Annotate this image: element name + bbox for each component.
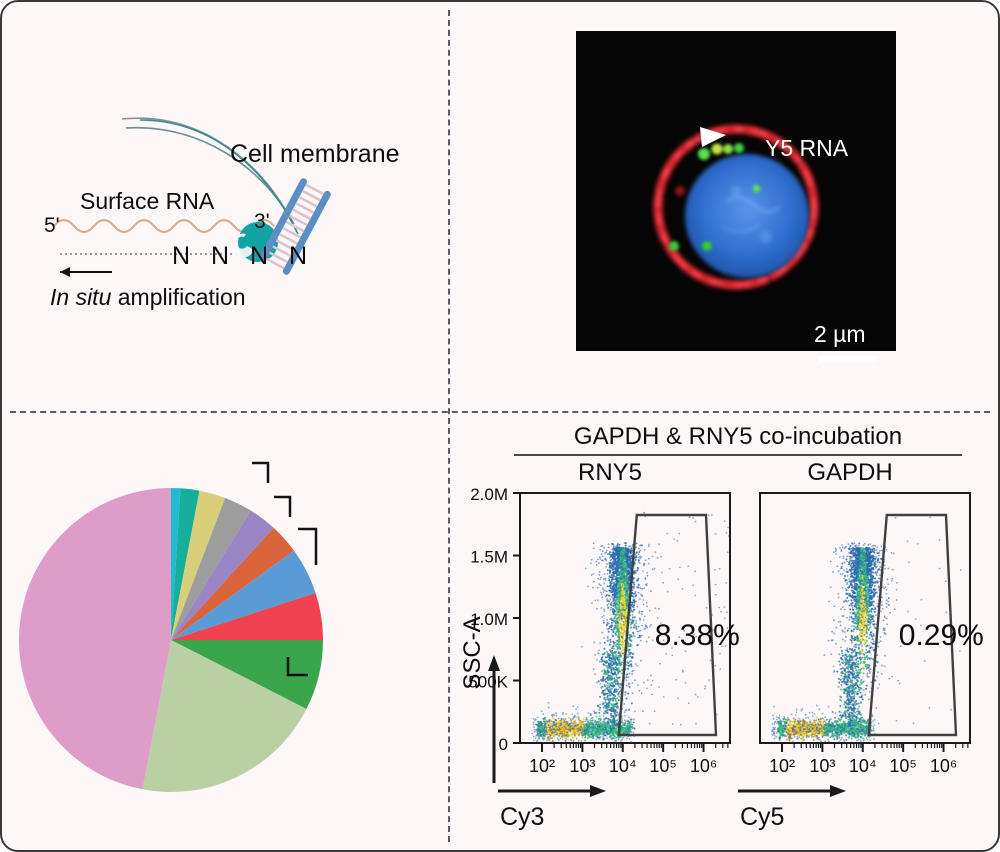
density-dot bbox=[625, 709, 627, 711]
density-dot bbox=[605, 596, 607, 598]
density-dot bbox=[616, 723, 618, 725]
density-dot bbox=[596, 608, 598, 610]
density-dot bbox=[626, 738, 628, 740]
density-dot bbox=[578, 716, 580, 718]
density-dot bbox=[662, 582, 664, 584]
x-axis-label: Cy3 bbox=[500, 803, 544, 831]
density-dot bbox=[607, 622, 609, 624]
density-dot bbox=[623, 599, 625, 601]
density-dot bbox=[565, 735, 567, 737]
panel-schematic: Cell membrane Surface RNA 5' 3' N N N N … bbox=[2, 2, 448, 411]
density-dot bbox=[549, 734, 551, 736]
density-dot bbox=[588, 736, 590, 738]
density-dot bbox=[557, 728, 559, 730]
density-dot bbox=[607, 722, 609, 724]
density-dot bbox=[623, 621, 625, 623]
density-dot bbox=[612, 543, 614, 545]
density-dot bbox=[648, 545, 650, 547]
density-dot bbox=[612, 709, 614, 711]
density-dot bbox=[592, 737, 594, 739]
density-dot bbox=[607, 640, 609, 642]
density-dot bbox=[595, 600, 597, 602]
density-dot bbox=[587, 727, 589, 729]
flow-plot-rny5: 2.0M1.5M1.0M500K010²10³10⁴10⁵10⁶Cy38.38% bbox=[468, 485, 740, 831]
density-dot bbox=[694, 570, 696, 572]
density-dot bbox=[596, 681, 598, 683]
density-dot bbox=[630, 727, 632, 729]
density-dot bbox=[631, 673, 633, 675]
density-dot bbox=[635, 601, 637, 603]
density-dot bbox=[638, 644, 640, 646]
density-dot bbox=[621, 720, 623, 722]
density-dot bbox=[557, 738, 559, 740]
density-dot bbox=[556, 725, 558, 727]
x-tick-label: 10² bbox=[769, 756, 795, 776]
density-dot bbox=[619, 660, 621, 662]
density-dot bbox=[626, 551, 628, 553]
density-dot bbox=[615, 681, 617, 683]
density-dot bbox=[605, 559, 607, 561]
cell-membrane-label: Cell membrane bbox=[230, 140, 400, 169]
scale-bar bbox=[818, 356, 876, 362]
density-dot bbox=[570, 739, 572, 741]
density-dot bbox=[874, 611, 876, 613]
density-dot bbox=[599, 661, 601, 663]
panel-micrograph: Y5 RNA 2 µm bbox=[450, 2, 1000, 411]
density-dot bbox=[639, 690, 641, 692]
density-dot bbox=[610, 716, 612, 718]
amplification-arrow-head bbox=[60, 267, 70, 277]
density-dot bbox=[609, 572, 611, 574]
density-dot bbox=[614, 556, 616, 558]
density-dot bbox=[608, 654, 610, 656]
density-dot bbox=[629, 653, 631, 655]
density-dot bbox=[598, 574, 600, 576]
density-dot bbox=[727, 527, 729, 529]
density-dot bbox=[629, 686, 631, 688]
density-dot bbox=[617, 682, 619, 684]
density-dot bbox=[602, 703, 604, 705]
density-dot bbox=[618, 739, 620, 741]
density-dot bbox=[590, 730, 592, 732]
scale-bar-label: 2 µm bbox=[814, 321, 866, 348]
density-dot bbox=[551, 732, 553, 734]
density-dot bbox=[612, 685, 614, 687]
density-dot bbox=[601, 632, 603, 634]
density-dot bbox=[610, 604, 612, 606]
density-dot bbox=[621, 547, 623, 549]
density-dot bbox=[621, 637, 623, 639]
density-dot bbox=[603, 615, 605, 617]
density-dot bbox=[715, 594, 717, 596]
density-dot bbox=[626, 590, 628, 592]
density-dot bbox=[625, 694, 627, 696]
density-dot bbox=[631, 645, 633, 647]
density-dot bbox=[635, 627, 637, 629]
density-dot bbox=[672, 723, 674, 725]
density-dot bbox=[606, 712, 608, 714]
density-dot bbox=[627, 646, 629, 648]
density-dot bbox=[612, 663, 614, 665]
density-dot bbox=[560, 724, 562, 726]
density-dot bbox=[865, 652, 867, 654]
density-dot bbox=[612, 568, 614, 570]
density-dot bbox=[612, 635, 614, 637]
density-dot bbox=[622, 737, 624, 739]
density-dot bbox=[626, 685, 628, 687]
density-dot bbox=[592, 587, 594, 589]
density-dot bbox=[606, 619, 608, 621]
density-dot bbox=[630, 555, 632, 557]
density-dot bbox=[609, 649, 611, 651]
density-dot bbox=[621, 604, 623, 606]
density-dot bbox=[723, 606, 725, 608]
density-dot bbox=[591, 733, 593, 735]
density-dot bbox=[609, 557, 611, 559]
density-dot bbox=[569, 723, 571, 725]
density-dot bbox=[560, 728, 562, 730]
y-axis-arrow-head bbox=[488, 655, 500, 671]
density-dot bbox=[714, 569, 716, 571]
density-dot bbox=[611, 596, 613, 598]
density-dot bbox=[582, 734, 584, 736]
density-dot bbox=[661, 572, 663, 574]
density-dot bbox=[616, 547, 618, 549]
density-dot bbox=[635, 622, 637, 624]
density-dot bbox=[612, 731, 614, 733]
density-dot bbox=[618, 696, 620, 698]
density-dot bbox=[591, 559, 593, 561]
density-dot bbox=[715, 584, 717, 586]
density-dot bbox=[615, 709, 617, 711]
density-dot bbox=[576, 738, 578, 740]
density-dot bbox=[604, 734, 606, 736]
y-tick-label: 0 bbox=[499, 735, 508, 754]
density-dot bbox=[592, 573, 594, 575]
density-dot bbox=[547, 721, 549, 723]
density-dot bbox=[622, 646, 624, 648]
density-dot bbox=[637, 580, 639, 582]
density-dot bbox=[637, 568, 639, 570]
density-dot bbox=[614, 621, 616, 623]
density-dot bbox=[663, 696, 665, 698]
density-dot bbox=[564, 720, 566, 722]
density-dot bbox=[606, 590, 608, 592]
density-dot bbox=[637, 637, 639, 639]
density-dot bbox=[615, 662, 617, 664]
density-dot bbox=[609, 735, 611, 737]
density-dot bbox=[604, 701, 606, 703]
density-dot bbox=[617, 680, 619, 682]
density-dot bbox=[573, 741, 575, 743]
density-dot bbox=[610, 726, 612, 728]
density-dot bbox=[868, 637, 870, 639]
density-dot bbox=[620, 613, 622, 615]
density-dot bbox=[643, 604, 645, 606]
leader-snorna bbox=[298, 529, 316, 565]
density-dot bbox=[615, 713, 617, 715]
density-dot bbox=[585, 733, 587, 735]
density-dot bbox=[603, 715, 605, 717]
density-dot bbox=[610, 703, 612, 705]
density-dot bbox=[583, 727, 585, 729]
density-dot bbox=[613, 545, 615, 547]
density-dot bbox=[624, 576, 626, 578]
density-dot bbox=[618, 587, 620, 589]
density-dot bbox=[633, 584, 635, 586]
density-dot bbox=[600, 592, 602, 594]
density-dot bbox=[631, 547, 633, 549]
density-dot bbox=[619, 619, 621, 621]
density-dot bbox=[616, 620, 618, 622]
density-dot bbox=[537, 740, 539, 742]
density-dot bbox=[618, 693, 620, 695]
density-dot bbox=[623, 588, 625, 590]
panel-flow: GAPDH & RNY5 co-incubation RNY5 GAPDH SS… bbox=[450, 413, 1000, 852]
density-dot bbox=[636, 631, 638, 633]
density-dot bbox=[607, 726, 609, 728]
density-dot bbox=[612, 725, 614, 727]
density-dot bbox=[574, 732, 576, 734]
density-dot bbox=[599, 642, 601, 644]
density-dot bbox=[607, 569, 609, 571]
density-dot bbox=[631, 653, 633, 655]
density-dot bbox=[622, 568, 624, 570]
density-dot bbox=[598, 583, 600, 585]
density-dot bbox=[658, 608, 660, 610]
density-dot bbox=[666, 533, 668, 535]
density-dot bbox=[695, 723, 697, 725]
density-dot bbox=[609, 583, 611, 585]
density-dot bbox=[618, 737, 620, 739]
density-dot bbox=[548, 725, 550, 727]
density-dot bbox=[603, 707, 605, 709]
density-dot bbox=[606, 598, 608, 600]
density-dot bbox=[682, 588, 684, 590]
density-dot bbox=[611, 738, 613, 740]
density-dot bbox=[606, 550, 608, 552]
density-dot bbox=[704, 688, 706, 690]
density-dot bbox=[614, 740, 616, 742]
density-dot bbox=[613, 669, 615, 671]
density-dot bbox=[609, 644, 611, 646]
density-dot bbox=[638, 548, 640, 550]
density-dot bbox=[578, 717, 580, 719]
density-dot bbox=[627, 654, 629, 656]
density-dot bbox=[551, 737, 553, 739]
density-dot bbox=[597, 731, 599, 733]
density-dot bbox=[562, 713, 564, 715]
density-dot bbox=[588, 731, 590, 733]
density-dot bbox=[609, 693, 611, 695]
density-dot bbox=[568, 729, 570, 731]
density-dot bbox=[563, 726, 565, 728]
density-dot bbox=[591, 574, 593, 576]
density-dot bbox=[535, 730, 537, 732]
density-dot bbox=[626, 732, 628, 734]
density-dot bbox=[715, 665, 717, 667]
density-dot bbox=[728, 535, 730, 537]
flow-title: GAPDH & RNY5 co-incubation bbox=[514, 423, 962, 456]
density-dot bbox=[685, 682, 687, 684]
density-dot bbox=[588, 722, 590, 724]
density-dot bbox=[586, 724, 588, 726]
density-dot bbox=[581, 646, 583, 648]
density-dot bbox=[606, 704, 608, 706]
density-dot bbox=[616, 668, 618, 670]
density-dot bbox=[654, 607, 656, 609]
density-dot bbox=[599, 571, 601, 573]
density-dot bbox=[613, 588, 615, 590]
density-dot bbox=[611, 688, 613, 690]
density-dot bbox=[538, 723, 540, 725]
density-dot bbox=[641, 613, 643, 615]
y-tick-label: 500K bbox=[468, 673, 508, 692]
density-dot bbox=[617, 545, 619, 547]
density-dot bbox=[636, 543, 638, 545]
density-dot bbox=[532, 722, 534, 724]
density-dot bbox=[613, 594, 615, 596]
density-dot bbox=[614, 582, 616, 584]
density-dot bbox=[533, 726, 535, 728]
density-dot bbox=[534, 729, 536, 731]
density-dot bbox=[623, 732, 625, 734]
density-dot bbox=[611, 667, 613, 669]
density-dot bbox=[617, 581, 619, 583]
density-dot bbox=[617, 568, 619, 570]
density-dot bbox=[596, 712, 598, 714]
x-tick-label: 10² bbox=[529, 756, 555, 776]
density-dot bbox=[565, 721, 567, 723]
density-dot bbox=[624, 723, 626, 725]
density-dot bbox=[600, 558, 602, 560]
density-dot bbox=[546, 734, 548, 736]
density-dot bbox=[641, 692, 643, 694]
density-dot bbox=[726, 611, 728, 613]
density-dot bbox=[627, 656, 629, 658]
density-dot bbox=[593, 542, 595, 544]
density-dot bbox=[614, 604, 616, 606]
density-dot bbox=[604, 590, 606, 592]
density-dot bbox=[595, 732, 597, 734]
density-dot bbox=[619, 549, 621, 551]
x-tick-label: 10⁶ bbox=[930, 756, 957, 776]
density-dot bbox=[650, 590, 652, 592]
density-dot bbox=[570, 734, 572, 736]
density-dot bbox=[558, 721, 560, 723]
density-dot bbox=[533, 736, 535, 738]
density-dot bbox=[708, 515, 710, 517]
density-dot bbox=[611, 647, 613, 649]
density-dot bbox=[612, 611, 614, 613]
density-dot bbox=[610, 627, 612, 629]
density-dot bbox=[643, 563, 645, 565]
density-dot bbox=[586, 717, 588, 719]
density-dot bbox=[609, 585, 611, 587]
density-dot bbox=[617, 688, 619, 690]
density-dot bbox=[604, 573, 606, 575]
density-dot bbox=[538, 738, 540, 740]
density-dot bbox=[618, 575, 620, 577]
density-dot bbox=[646, 602, 648, 604]
density-dot bbox=[607, 607, 609, 609]
density-dot bbox=[629, 649, 631, 651]
density-dot bbox=[622, 653, 624, 655]
density-dot bbox=[587, 586, 589, 588]
density-dot bbox=[616, 719, 618, 721]
density-dot bbox=[571, 722, 573, 724]
density-dot bbox=[537, 732, 539, 734]
density-dot bbox=[645, 627, 647, 629]
density-dot bbox=[633, 588, 635, 590]
density-dot bbox=[619, 648, 621, 650]
density-dot bbox=[625, 620, 627, 622]
density-dot bbox=[614, 688, 616, 690]
density-dot bbox=[612, 603, 614, 605]
density-dot bbox=[620, 684, 622, 686]
density-dot bbox=[611, 549, 613, 551]
y-tick-label: 1.0M bbox=[470, 610, 508, 629]
density-dot bbox=[634, 571, 636, 573]
density-dot bbox=[612, 699, 614, 701]
density-dot bbox=[572, 718, 574, 720]
density-dot bbox=[597, 652, 599, 654]
x-axis-arrow-head bbox=[830, 785, 846, 797]
leader-mt-trna bbox=[274, 497, 290, 517]
density-dot bbox=[667, 591, 669, 593]
density-dot bbox=[606, 661, 608, 663]
density-dot bbox=[628, 725, 630, 727]
density-dot bbox=[634, 679, 636, 681]
density-dot bbox=[542, 713, 544, 715]
density-dot bbox=[615, 642, 617, 644]
density-dot bbox=[633, 602, 635, 604]
density-dot bbox=[608, 674, 610, 676]
density-dot bbox=[613, 573, 615, 575]
density-dot bbox=[616, 644, 618, 646]
density-dot bbox=[677, 697, 679, 699]
density-dot bbox=[595, 724, 597, 726]
density-dot bbox=[629, 656, 631, 658]
density-dot bbox=[608, 603, 610, 605]
density-dot bbox=[594, 654, 596, 656]
density-dot bbox=[622, 609, 624, 611]
density-dot bbox=[601, 594, 603, 596]
density-dot bbox=[615, 705, 617, 707]
density-dot bbox=[593, 723, 595, 725]
density-dot bbox=[616, 697, 618, 699]
density-dot bbox=[596, 739, 598, 741]
density-dot bbox=[620, 627, 622, 629]
density-dot bbox=[719, 568, 721, 570]
density-dot bbox=[610, 728, 612, 730]
density-dot bbox=[625, 691, 627, 693]
density-dot bbox=[616, 649, 618, 651]
density-dot bbox=[647, 679, 649, 681]
density-dot bbox=[544, 738, 546, 740]
density-dot bbox=[624, 715, 626, 717]
density-dot bbox=[602, 736, 604, 738]
in-situ-amplification-label: In situ amplification bbox=[50, 284, 246, 311]
density-dot bbox=[638, 557, 640, 559]
density-dot bbox=[601, 607, 603, 609]
density-dot bbox=[602, 678, 604, 680]
density-dot bbox=[599, 696, 601, 698]
density-dot bbox=[606, 682, 608, 684]
density-dot bbox=[679, 566, 681, 568]
density-dot bbox=[612, 555, 614, 557]
density-dot bbox=[623, 569, 625, 571]
